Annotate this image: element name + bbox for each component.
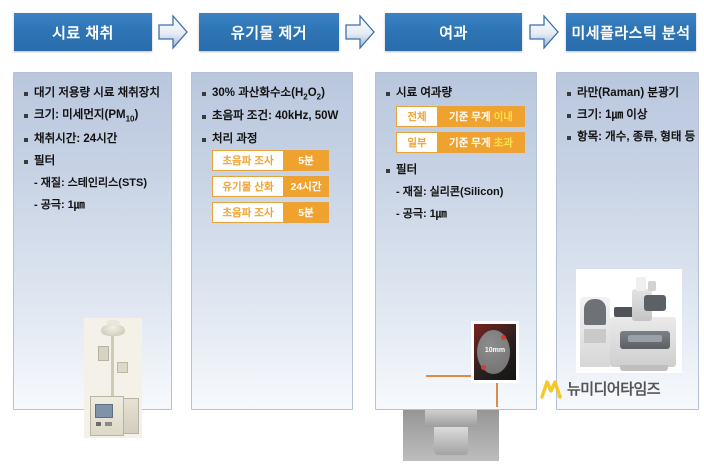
process-duration: 5분 <box>284 202 329 223</box>
process-name: 초음파 조사 <box>212 150 284 171</box>
step-panel-2: 30% 과산화수소(H2O2) 초음파 조건: 40kHz, 50W 처리 과정… <box>191 72 353 410</box>
bullet-icon <box>386 169 390 173</box>
list-item: 초음파 조건: 40kHz, 50W <box>202 110 346 123</box>
list-item-label: 초음파 조건: 40kHz, 50W <box>212 110 338 123</box>
bullet-icon <box>24 160 28 164</box>
step-header-2: 유기물 제거 <box>199 13 339 51</box>
weight-criteria-main: 기준 무게 <box>449 135 491 150</box>
sub-item: - 재질: 스테인리스(STS) <box>34 177 165 190</box>
step-header-3: 여과 <box>385 13 522 51</box>
filtration-volume-table: 전체 기준 무게 이내 일부 기준 무게 초과 <box>396 106 525 158</box>
watermark-label: 뉴미디어타임즈 <box>567 378 660 399</box>
process-duration: 24시간 <box>284 176 329 197</box>
step-header-4: 미세플라스틱 분석 <box>566 13 696 51</box>
step-panel-4: 라만(Raman) 분광기 크기: 1㎛ 이상 항목: 개수, 종류, 형태 등 <box>556 72 699 410</box>
list-item-label: 항목: 개수, 종류, 형태 등 <box>577 131 695 144</box>
list-item-label: 크기: 미세먼지(PM10) <box>34 109 138 123</box>
bullet-icon <box>567 92 571 96</box>
step-panel-1: 대기 저용량 시료 채취장치 크기: 미세먼지(PM10) 채취시간: 24시간… <box>13 72 172 410</box>
weight-criteria: 기준 무게 초과 <box>438 132 525 153</box>
step-1-bullet-list: 대기 저용량 시료 채취장치 크기: 미세먼지(PM10) 채취시간: 24시간… <box>24 87 165 220</box>
filter-closeup-photo: 10mm <box>471 321 519 383</box>
table-row: 유기물 산화 24시간 <box>212 176 329 197</box>
bullet-icon <box>24 114 28 118</box>
sub-item: - 공극: 1㎛ <box>34 199 165 212</box>
step-title-4: 미세플라스틱 분석 <box>571 22 690 43</box>
list-item: 30% 과산화수소(H2O2) <box>202 87 346 101</box>
process-name: 유기물 산화 <box>212 176 284 197</box>
bullet-icon <box>567 136 571 140</box>
filter-scale-label: 10mm <box>471 347 519 354</box>
sub-item: - 공극: 1㎛ <box>396 208 530 221</box>
list-item: 크기: 1㎛ 이상 <box>567 109 692 122</box>
step-panel-3: 시료 여과량 전체 기준 무게 이내 일부 기준 무게 초과 <box>375 72 537 410</box>
bullet-icon <box>386 92 390 96</box>
treatment-process-table: 초음파 조사 5분 유기물 산화 24시간 초음파 조사 5분 <box>212 150 329 228</box>
list-item-label: 필터 <box>34 155 55 168</box>
list-item-label: 대기 저용량 시료 채취장치 <box>34 87 160 100</box>
list-item: 필터 <box>386 164 530 177</box>
step-4-bullet-list: 라만(Raman) 분광기 크기: 1㎛ 이상 항목: 개수, 종류, 형태 등 <box>567 87 692 154</box>
news-logo-icon <box>540 379 562 399</box>
bullet-icon <box>24 92 28 96</box>
bullet-icon <box>567 114 571 118</box>
list-item: 채취시간: 24시간 <box>24 133 165 146</box>
weight-criteria: 기준 무게 이내 <box>438 106 525 127</box>
list-item-label: 처리 과정 <box>212 133 258 146</box>
step-2-bullet-list: 30% 과산화수소(H2O2) 초음파 조건: 40kHz, 50W 처리 과정 <box>202 87 346 155</box>
step-title-3: 여과 <box>439 22 468 43</box>
process-name: 초음파 조사 <box>212 202 284 223</box>
list-item: 필터 <box>24 155 165 168</box>
step-title-2: 유기물 제거 <box>231 22 307 43</box>
list-item: 시료 여과량 <box>386 87 530 100</box>
flow-arrow-icon-3 <box>529 14 559 50</box>
bullet-icon <box>24 138 28 142</box>
list-item: 라만(Raman) 분광기 <box>567 87 692 100</box>
weight-criteria-highlight: 초과 <box>494 135 513 150</box>
raman-spectrometer-photo <box>576 269 682 373</box>
table-row: 초음파 조사 5분 <box>212 150 329 171</box>
bullet-icon <box>202 115 206 119</box>
list-item: 항목: 개수, 종류, 형태 등 <box>567 131 692 144</box>
list-item-label: 필터 <box>396 164 417 177</box>
air-sampler-photo <box>84 318 142 438</box>
bullet-icon <box>202 92 206 96</box>
watermark: 뉴미디어타임즈 <box>540 378 660 399</box>
sub-item: - 재질: 실리콘(Silicon) <box>396 186 530 199</box>
list-item-label: 시료 여과량 <box>396 87 452 100</box>
process-duration: 5분 <box>284 150 329 171</box>
step-title-1: 시료 채취 <box>52 22 114 43</box>
list-item-label: 라만(Raman) 분광기 <box>577 87 679 100</box>
table-row: 초음파 조사 5분 <box>212 202 329 223</box>
flow-arrow-icon-2 <box>345 14 375 50</box>
list-item: 크기: 미세먼지(PM10) <box>24 109 165 123</box>
list-item: 대기 저용량 시료 채취장치 <box>24 87 165 100</box>
bullet-icon <box>202 138 206 142</box>
list-item-label: 크기: 1㎛ 이상 <box>577 109 647 122</box>
table-row: 전체 기준 무게 이내 <box>396 106 525 127</box>
table-row: 일부 기준 무게 초과 <box>396 132 525 153</box>
list-item: 처리 과정 <box>202 133 346 146</box>
workflow-diagram: 시료 채취 유기물 제거 여과 미세플라스틱 분석 대기 저용량 <box>0 0 704 419</box>
list-item-label: 30% 과산화수소(H2O2) <box>212 87 325 101</box>
list-item-label: 채취시간: 24시간 <box>34 133 117 146</box>
step-header-1: 시료 채취 <box>14 13 152 51</box>
step-3-filter-list: 필터 - 재질: 실리콘(Silicon) - 공극: 1㎛ <box>386 164 530 230</box>
flow-arrow-icon-1 <box>158 14 188 50</box>
weight-criteria-main: 기준 무게 <box>449 109 491 124</box>
weight-criteria-highlight: 이내 <box>494 109 513 124</box>
volume-scope: 전체 <box>396 106 438 127</box>
volume-scope: 일부 <box>396 132 438 153</box>
